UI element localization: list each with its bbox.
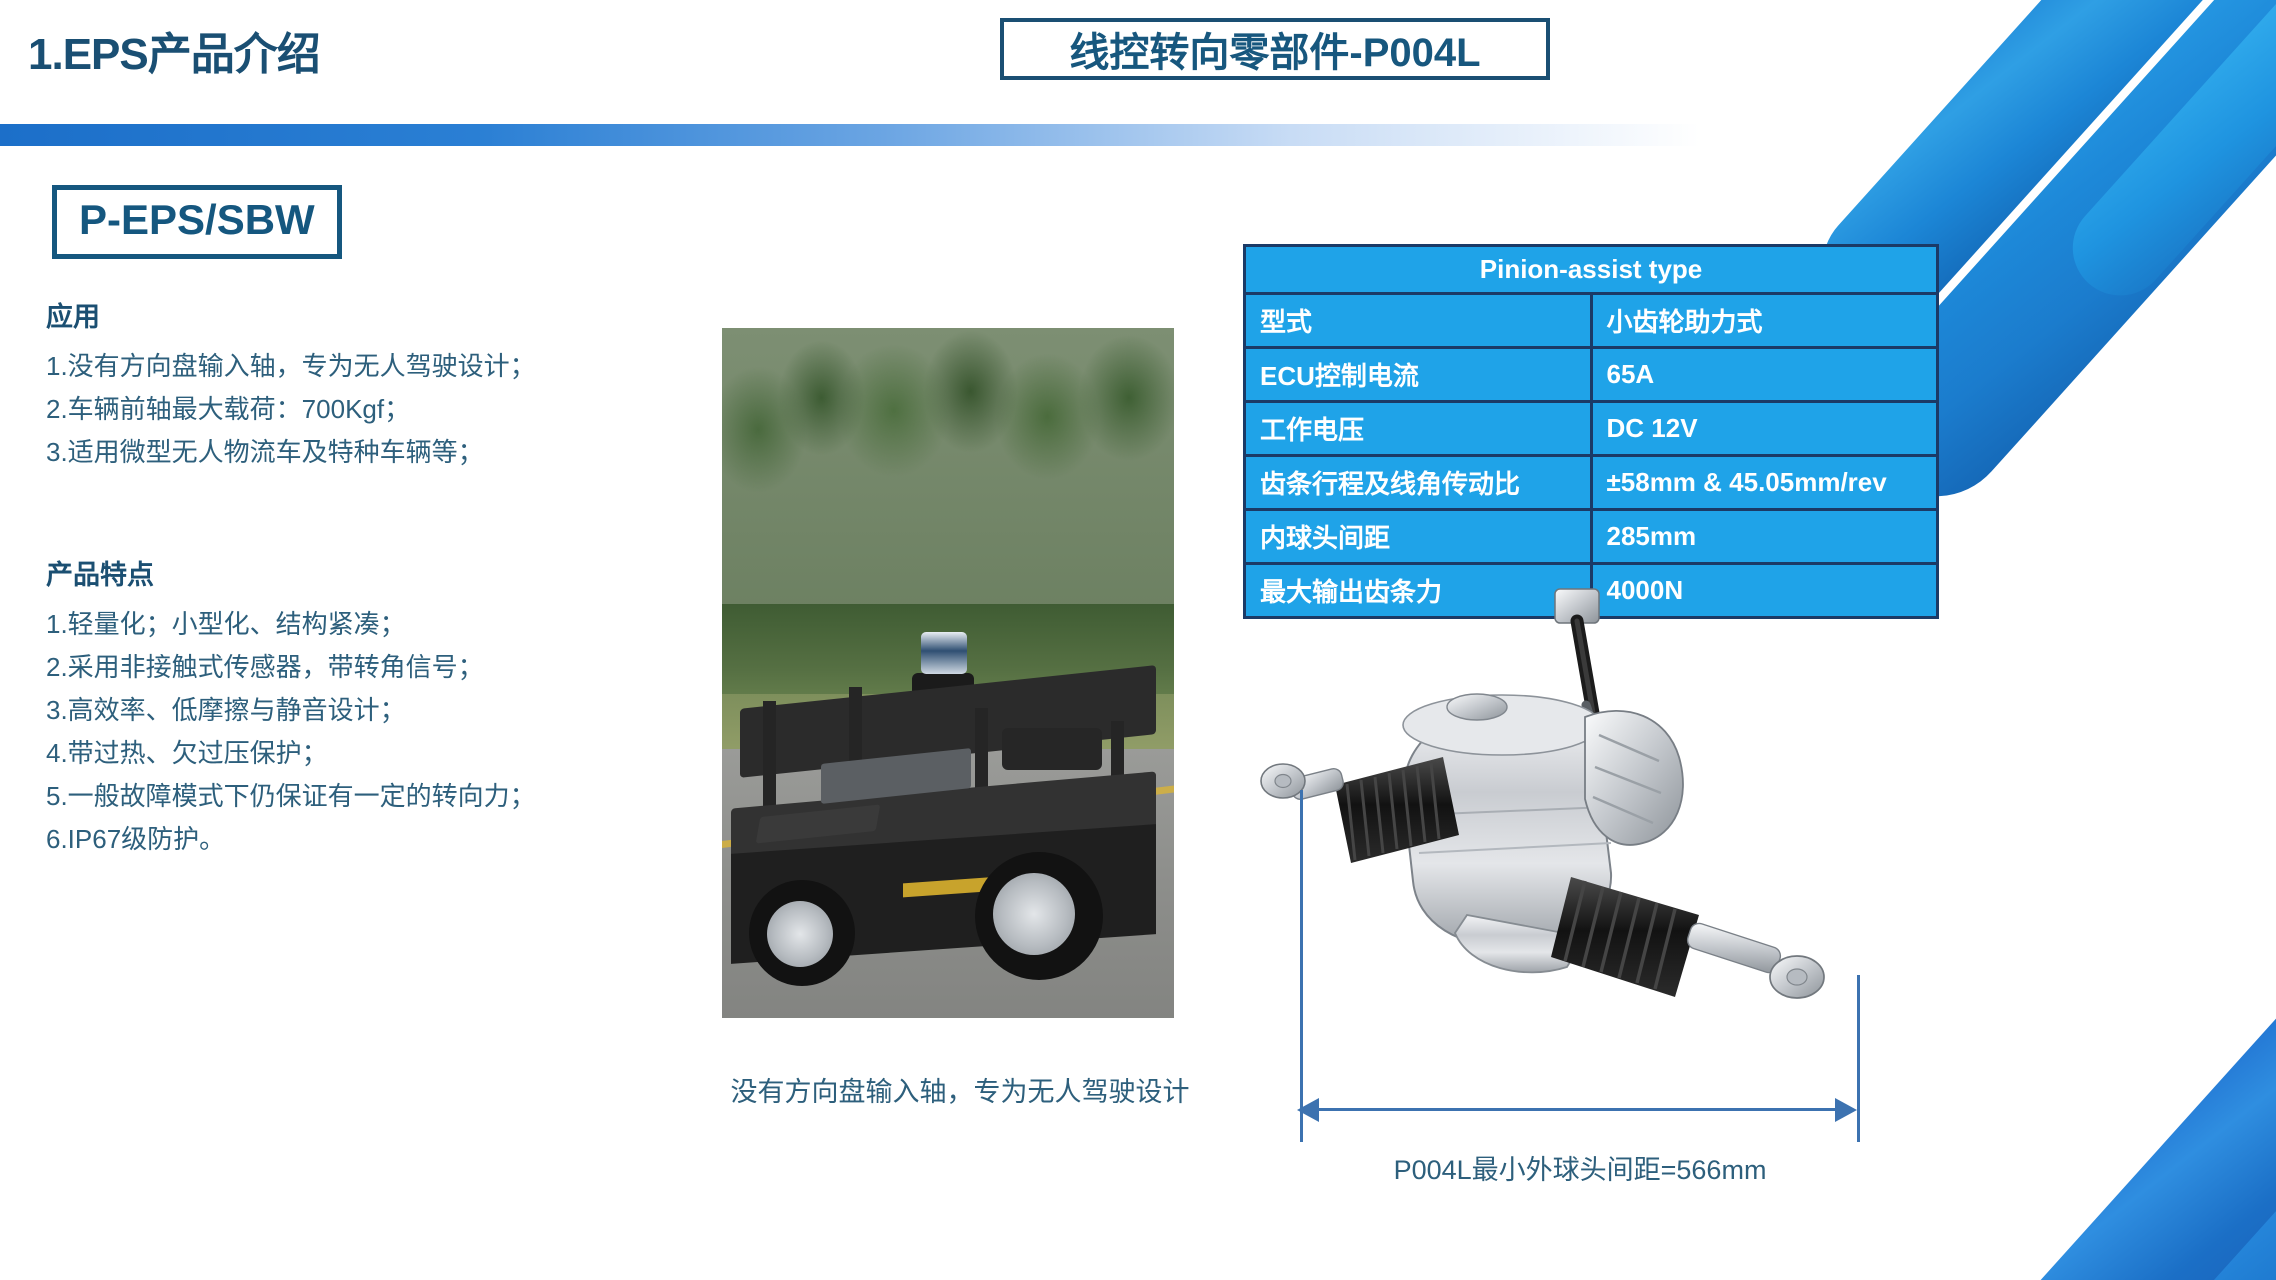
photo-caption: 没有方向盘输入轴，专为无人驾驶设计 bbox=[660, 1070, 1260, 1109]
product-type-label: P-EPS/SBW bbox=[79, 196, 315, 243]
table-header-row: Pinion-assist type bbox=[1245, 246, 1938, 294]
part-number-badge: 线控转向零部件-P004L bbox=[1000, 18, 1550, 80]
list-item: 2.车辆前轴最大载荷：700Kgf； bbox=[46, 388, 686, 431]
table-row: 工作电压 DC 12V bbox=[1245, 402, 1938, 456]
dimension-line bbox=[1308, 1108, 1853, 1111]
table-cell-value: 285mm bbox=[1591, 510, 1938, 564]
dimension-label: P004L最小外球头间距=566mm bbox=[1300, 1148, 1860, 1187]
specification-table: Pinion-assist type 型式 小齿轮助力式 ECU控制电流 65A… bbox=[1243, 244, 1939, 619]
list-item: 3.高效率、低摩擦与静音设计； bbox=[46, 689, 686, 732]
header-divider bbox=[0, 124, 1700, 146]
arrow-right-icon bbox=[1835, 1098, 1857, 1122]
equipment-box bbox=[1002, 728, 1102, 770]
table-cell-value: 小齿轮助力式 bbox=[1591, 294, 1938, 348]
vehicle-photo bbox=[722, 328, 1174, 1018]
application-block: 应用 1.没有方向盘输入轴，专为无人驾驶设计； 2.车辆前轴最大载荷：700Kg… bbox=[46, 300, 686, 474]
table-cell-key: 齿条行程及线角传动比 bbox=[1245, 456, 1592, 510]
table-cell-key: 工作电压 bbox=[1245, 402, 1592, 456]
wheel-rim-rear bbox=[767, 901, 833, 967]
page-title: 1.EPS产品介绍 bbox=[28, 18, 320, 82]
table-cell-value: 65A bbox=[1591, 348, 1938, 402]
table-cell-key: 型式 bbox=[1245, 294, 1592, 348]
wheel-rim-front bbox=[993, 873, 1075, 955]
list-item: 1.没有方向盘输入轴，专为无人驾驶设计； bbox=[46, 345, 686, 388]
features-heading: 产品特点 bbox=[46, 558, 686, 593]
table-row: 型式 小齿轮助力式 bbox=[1245, 294, 1938, 348]
features-list: 1.轻量化；小型化、结构紧凑； 2.采用非接触式传感器，带转角信号； 3.高效率… bbox=[46, 603, 686, 860]
table-row: 内球头间距 285mm bbox=[1245, 510, 1938, 564]
list-item: 2.采用非接触式传感器，带转角信号； bbox=[46, 646, 686, 689]
table-row: ECU控制电流 65A bbox=[1245, 348, 1938, 402]
photo-treeline bbox=[722, 328, 1174, 645]
table-cell-key: ECU控制电流 bbox=[1245, 348, 1592, 402]
product-type-badge: P-EPS/SBW bbox=[52, 185, 342, 259]
dimension-extension-line-left bbox=[1300, 790, 1303, 1142]
application-heading: 应用 bbox=[46, 300, 686, 335]
table-cell-key: 内球头间距 bbox=[1245, 510, 1592, 564]
lidar-sensor bbox=[921, 632, 967, 674]
dimension-callout: P004L最小外球头间距=566mm bbox=[1300, 790, 1900, 1190]
list-item: 1.轻量化；小型化、结构紧凑； bbox=[46, 603, 686, 646]
table-header-cell: Pinion-assist type bbox=[1245, 246, 1938, 294]
table-row: 齿条行程及线角传动比 ±58mm & 45.05mm/rev bbox=[1245, 456, 1938, 510]
part-number-label: 线控转向零部件-P004L bbox=[1069, 20, 1480, 78]
features-block: 产品特点 1.轻量化；小型化、结构紧凑； 2.采用非接触式传感器，带转角信号； … bbox=[46, 558, 686, 860]
list-item: 3.适用微型无人物流车及特种车辆等； bbox=[46, 431, 686, 474]
list-item: 4.带过热、欠过压保护； bbox=[46, 732, 686, 775]
application-list: 1.没有方向盘输入轴，专为无人驾驶设计； 2.车辆前轴最大载荷：700Kgf； … bbox=[46, 345, 686, 474]
ribbon-bottom-right-2 bbox=[2028, 1040, 2276, 1280]
slide-canvas: 1.EPS产品介绍 线控转向零部件-P004L P-EPS/SBW 应用 1.没… bbox=[0, 0, 2276, 1280]
ribbon-top-right-3 bbox=[2053, 0, 2276, 315]
table-cell-value: ±58mm & 45.05mm/rev bbox=[1591, 456, 1938, 510]
list-item: 5.一般故障模式下仍保证有一定的转向力； bbox=[46, 775, 686, 818]
dimension-extension-line-right bbox=[1857, 975, 1860, 1142]
arrow-left-icon bbox=[1297, 1098, 1319, 1122]
table-cell-value: DC 12V bbox=[1591, 402, 1938, 456]
list-item: 6.IP67级防护。 bbox=[46, 818, 686, 861]
